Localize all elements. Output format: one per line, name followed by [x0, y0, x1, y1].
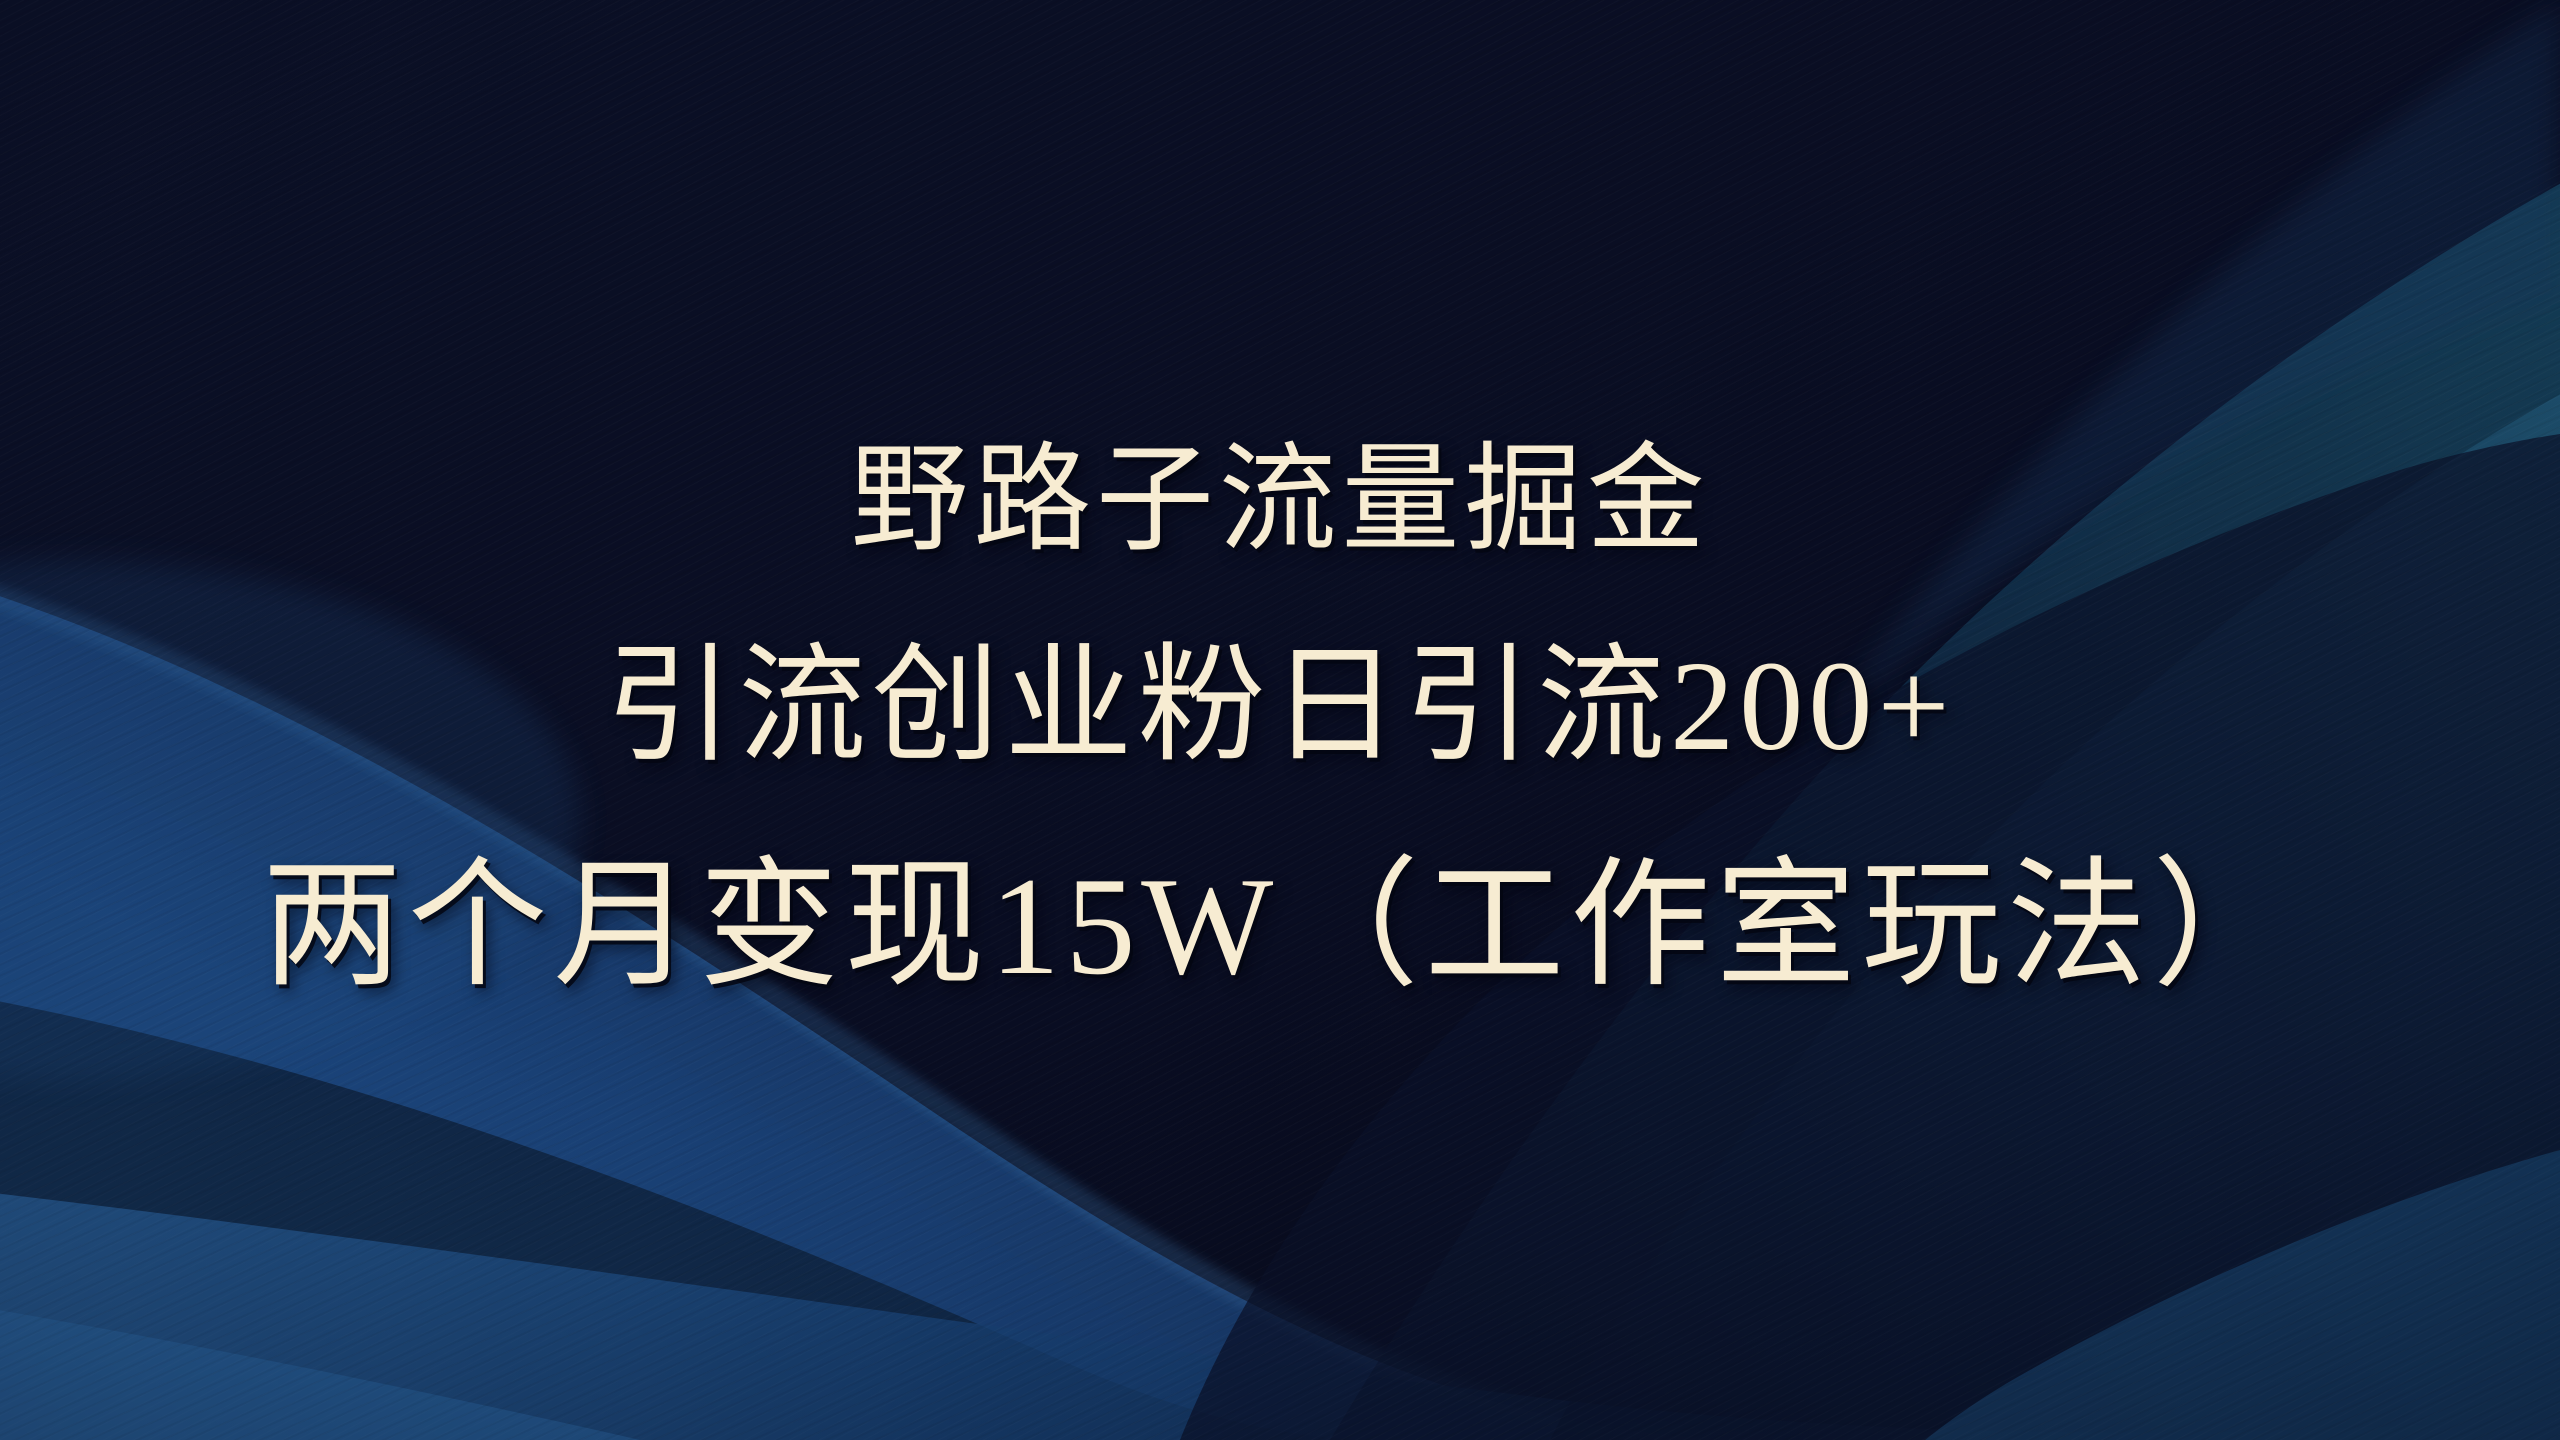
headline-line-2: 引流创业粉日引流200+: [605, 631, 1955, 782]
headline-line-3: 两个月变现15W（工作室玩法）: [262, 844, 2298, 1009]
poster-canvas: 野路子流量掘金 引流创业粉日引流200+ 两个月变现15W（工作室玩法）: [0, 0, 2560, 1440]
headline-line-1: 野路子流量掘金: [850, 431, 1709, 570]
headline-block: 野路子流量掘金 引流创业粉日引流200+ 两个月变现15W（工作室玩法）: [0, 0, 2560, 1440]
